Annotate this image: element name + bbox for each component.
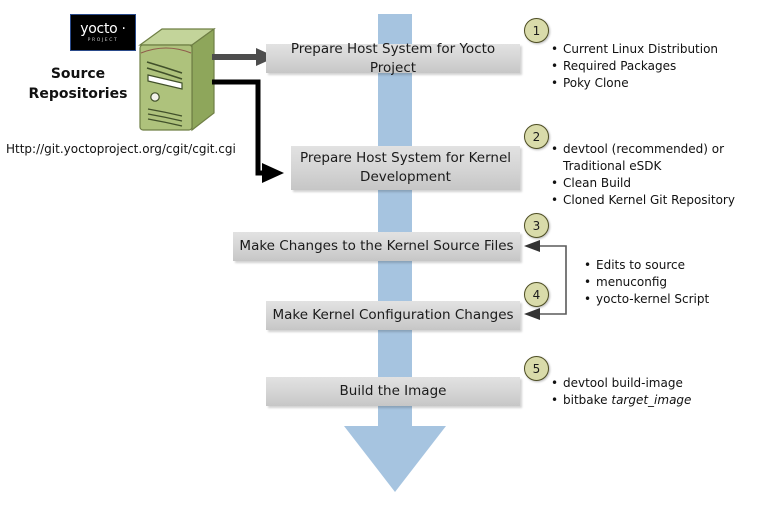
step-notes-5: devtool build-image bitbake target_image — [551, 375, 691, 409]
note-item: yocto-kernel Script — [584, 291, 709, 308]
note-item: Required Packages — [551, 58, 718, 75]
note-item: menuconfig — [584, 274, 709, 291]
step-box-label: Build the Image — [340, 382, 447, 401]
note-item-argument: target_image — [611, 393, 691, 407]
step-number-text: 5 — [533, 362, 541, 376]
step-number-badge-5: 5 — [524, 356, 549, 381]
workflow-spine-arrowhead — [344, 426, 446, 492]
step-box-label: Prepare Host System for Yocto Project — [266, 40, 520, 78]
step-box-build-the-image[interactable]: Build the Image — [266, 377, 520, 406]
note-item: Clean Build — [551, 175, 735, 192]
step-notes-1: Current Linux Distribution Required Pack… — [551, 41, 718, 92]
note-item-command: bitbake — [563, 393, 611, 407]
source-repositories-label-line2: Repositories — [18, 84, 138, 104]
step-number-text: 2 — [533, 130, 541, 144]
step-number-text: 1 — [533, 24, 541, 38]
yocto-logo-sub-text: PROJECT — [88, 37, 119, 44]
note-item-line2: Traditional eSDK — [563, 158, 735, 175]
connector-server-to-step2 — [212, 78, 292, 187]
note-item: Current Linux Distribution — [551, 41, 718, 58]
note-item-line1: devtool (recommended) or — [563, 142, 724, 156]
step-number-badge-3: 3 — [524, 213, 549, 238]
yocto-logo-main-text: yocto · — [80, 22, 125, 36]
connector-notes-to-step3-step4 — [520, 238, 580, 326]
server-tower-icon — [136, 27, 216, 133]
yocto-project-logo: yocto · PROJECT — [70, 14, 136, 51]
note-item: bitbake target_image — [551, 392, 691, 409]
source-repositories-label: Source Repositories — [18, 64, 138, 104]
step-box-prepare-host-yocto[interactable]: Prepare Host System for Yocto Project — [266, 44, 520, 73]
source-repositories-url: Http://git.yoctoproject.org/cgit/cgit.cg… — [6, 142, 236, 156]
step-box-label-line1: Prepare Host System for Kernel — [300, 149, 511, 168]
step-notes-2: devtool (recommended) or Traditional eSD… — [551, 141, 735, 209]
step-number-badge-1: 1 — [524, 18, 549, 43]
step-box-label: Make Changes to the Kernel Source Files — [239, 237, 513, 256]
step-box-label-line2: Development — [360, 168, 451, 187]
step-number-text: 3 — [533, 219, 541, 233]
step-number-badge-2: 2 — [524, 124, 549, 149]
note-item: Edits to source — [584, 257, 709, 274]
step-box-make-kernel-config-changes[interactable]: Make Kernel Configuration Changes — [266, 301, 520, 330]
note-item: devtool build-image — [551, 375, 691, 392]
step-box-label: Make Kernel Configuration Changes — [272, 306, 513, 325]
note-item: Poky Clone — [551, 75, 718, 92]
note-item: devtool (recommended) or Traditional eSD… — [551, 141, 735, 175]
source-repositories-label-line1: Source — [18, 64, 138, 84]
note-item: Cloned Kernel Git Repository — [551, 192, 735, 209]
diagram-canvas: yocto · PROJECT Source Repositories Http… — [0, 0, 769, 517]
step-notes-3-4: Edits to source menuconfig yocto-kernel … — [584, 257, 709, 308]
step-box-prepare-host-kernel[interactable]: Prepare Host System for Kernel Developme… — [291, 146, 520, 190]
step-box-make-kernel-source-changes[interactable]: Make Changes to the Kernel Source Files — [233, 232, 520, 261]
